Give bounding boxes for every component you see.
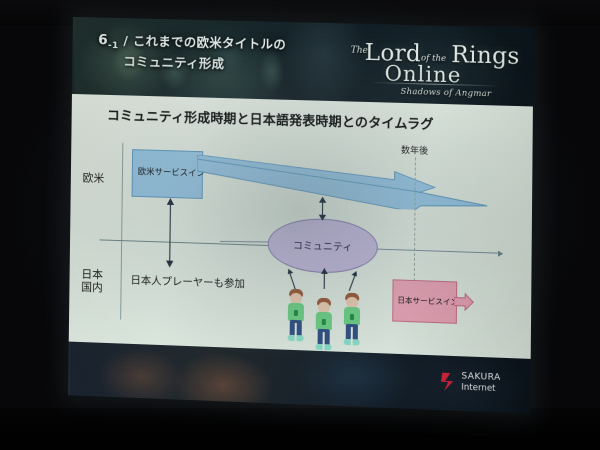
sakura-logo-mark-icon bbox=[441, 372, 457, 393]
player-avatar-center bbox=[312, 298, 335, 353]
projection-screen-wrapper: 6-1 / これまでの欧米タイトルの コミュニティ形成 The Lord of … bbox=[0, 0, 600, 450]
lotr-online-logo: The Lord of the Rings Online Shadows of … bbox=[338, 31, 525, 106]
avatar-shirt-logo bbox=[294, 310, 298, 316]
overseas-timeline-arrow bbox=[197, 155, 488, 212]
player-to-community-arrow-right bbox=[347, 271, 357, 293]
sakura-logo-line2: Internet bbox=[461, 383, 495, 394]
presentation-slide: 6-1 / これまでの欧米タイトルの コミュニティ形成 The Lord of … bbox=[68, 17, 534, 414]
slide-body: コミュニティ形成時期と日本語発表時期とのタイムラグ 欧米 日本国内 欧米サービス… bbox=[69, 94, 533, 359]
japan-service-in-box: 日本サービスイン bbox=[392, 279, 457, 324]
player-to-community-arrow-left bbox=[287, 269, 297, 291]
community-ellipse: コミュニティ bbox=[267, 217, 378, 275]
avatar-shirt-logo bbox=[350, 314, 354, 320]
vertical-axis-line bbox=[120, 143, 123, 320]
avatar-shoes bbox=[316, 344, 332, 351]
avatar-shoes bbox=[344, 339, 360, 346]
avatar-shirt-logo bbox=[322, 319, 326, 325]
slide-heading: コミュニティ形成時期と日本語発表時期とのタイムラグ bbox=[107, 105, 434, 133]
axis-label-japan: 日本国内 bbox=[81, 269, 111, 296]
sakura-internet-logo: SAKURA Internet bbox=[441, 370, 522, 399]
player-to-community-arrow-center bbox=[319, 268, 329, 290]
community-right-connector bbox=[374, 248, 499, 253]
title-line-1: これまでの欧米タイトルの bbox=[133, 33, 286, 52]
logo-subtitle: Shadows of Angmar bbox=[400, 87, 491, 99]
avatar-shoes bbox=[288, 335, 304, 342]
japan-service-in-arrow bbox=[454, 291, 474, 312]
community-to-timeline-arrow bbox=[318, 197, 327, 221]
photo-of-projected-slide: 6-1 / これまでの欧米タイトルの コミュニティ形成 The Lord of … bbox=[0, 0, 600, 450]
overseas-service-in-box: 欧米サービスイン bbox=[132, 149, 204, 199]
overseas-service-in-label: 欧米サービスイン bbox=[138, 165, 205, 179]
section-number: 6 bbox=[98, 32, 108, 48]
japanese-players-note: 日本人プレーヤーも参加 bbox=[130, 272, 245, 291]
player-avatar-right bbox=[341, 293, 364, 348]
logo-word-rings: Rings bbox=[451, 42, 520, 70]
slide-title: 6-1 / これまでの欧米タイトルの コミュニティ形成 bbox=[98, 31, 287, 74]
community-label: コミュニティ bbox=[269, 236, 377, 255]
overseas-japan-gap-arrow bbox=[165, 198, 175, 268]
section-subnumber: -1 bbox=[108, 41, 119, 51]
player-avatar-left bbox=[285, 289, 308, 344]
axis-label-overseas: 欧米 bbox=[83, 169, 105, 186]
player-characters-group bbox=[285, 285, 368, 350]
slide-header-band: 6-1 / これまでの欧米タイトルの コミュニティ形成 The Lord of … bbox=[72, 17, 534, 107]
sakura-logo-line1: SAKURA bbox=[461, 371, 500, 383]
title-separator: / bbox=[123, 33, 128, 48]
years-later-label: 数年後 bbox=[401, 143, 428, 157]
japan-service-in-label: 日本サービスイン bbox=[397, 295, 458, 308]
community-left-connector bbox=[220, 241, 270, 243]
